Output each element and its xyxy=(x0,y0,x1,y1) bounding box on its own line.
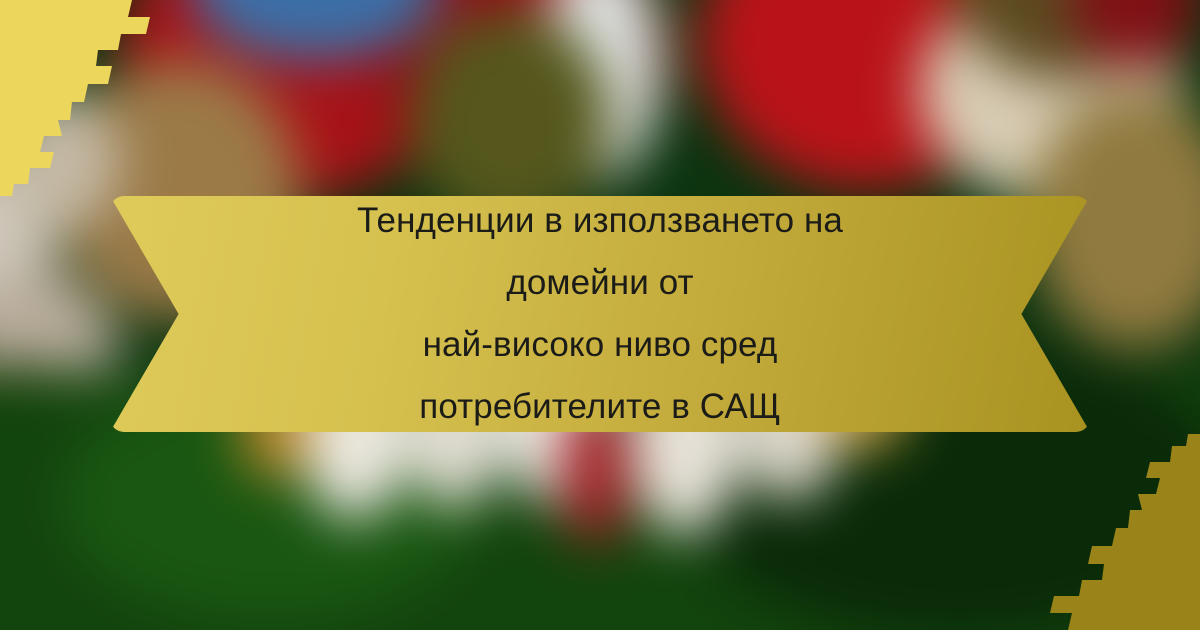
page-title: Тенденции в използването на домейни от н… xyxy=(220,190,980,438)
jagged-corner-shape-icon xyxy=(1050,434,1200,630)
title-banner: Тенденции в използването на домейни от н… xyxy=(110,196,1090,432)
jagged-corner-shape-icon xyxy=(0,0,150,196)
share-card: Тенденции в използването на домейни от н… xyxy=(0,0,1200,630)
